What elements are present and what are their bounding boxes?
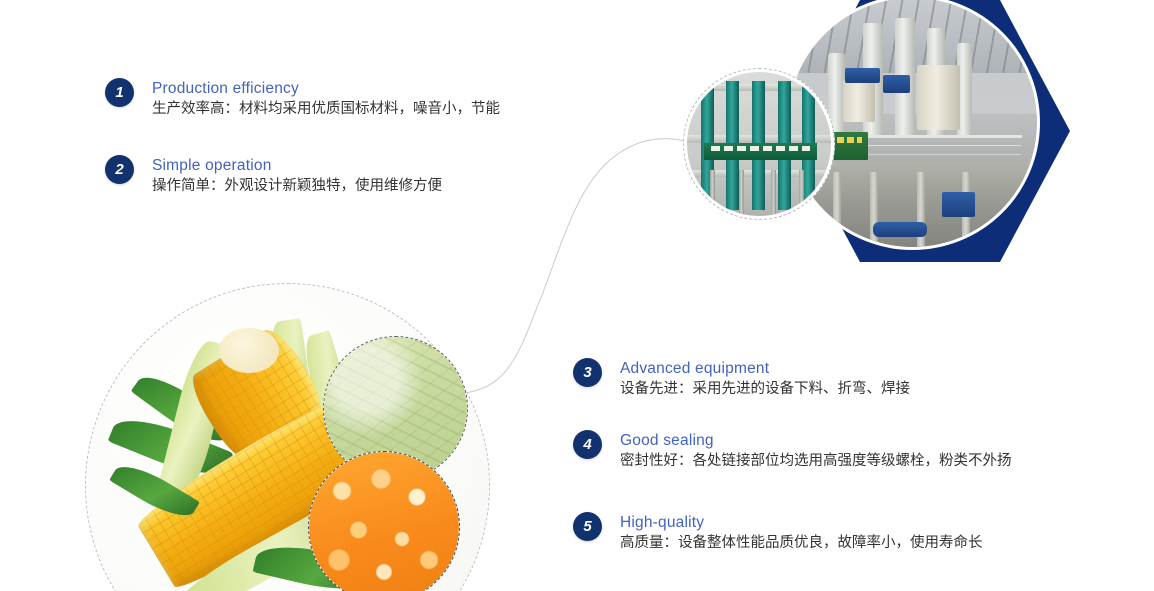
feature-badge-1: 1	[105, 78, 134, 107]
feature-subtitle-3: 设备先进：采用先进的设备下料、折弯、焊接	[620, 379, 910, 400]
feature-heading-5: High-quality	[620, 513, 983, 532]
feature-badge-3: 3	[573, 358, 602, 387]
feature-item-5[interactable]: 5 High-quality 高质量：设备整体性能品质优良，故障率小，使用寿命长	[573, 512, 983, 554]
feature-badge-2: 2	[105, 155, 134, 184]
produce-photo-cluster	[80, 278, 550, 591]
feature-text-5: High-quality 高质量：设备整体性能品质优良，故障率小，使用寿命长	[620, 512, 983, 554]
infographic-canvas: 1 Production efficiency 生产效率高：材料均采用优质国标材…	[0, 0, 1154, 591]
teal-milling-line-photo	[683, 68, 835, 220]
feature-heading-3: Advanced equipment	[620, 359, 910, 378]
feature-subtitle-4: 密封性好：各处链接部位均选用高强度等级螺栓，粉类不外扬	[620, 451, 1012, 472]
feature-item-4[interactable]: 4 Good sealing 密封性好：各处链接部位均选用高强度等级螺栓，粉类不…	[573, 430, 1012, 472]
mill-line-banner-sign	[704, 143, 816, 160]
feature-badge-4: 4	[573, 430, 602, 459]
feature-item-2[interactable]: 2 Simple operation 操作简单：外观设计新颖独特，使用维修方便	[105, 155, 442, 197]
feature-badge-5: 5	[573, 512, 602, 541]
feature-text-3: Advanced equipment 设备先进：采用先进的设备下料、折弯、焊接	[620, 358, 910, 400]
feature-heading-4: Good sealing	[620, 431, 1012, 450]
feature-item-1[interactable]: 1 Production efficiency 生产效率高：材料均采用优质国标材…	[105, 78, 500, 120]
feature-subtitle-1: 生产效率高：材料均采用优质国标材料，噪音小，节能	[152, 99, 500, 120]
feature-text-1: Production efficiency 生产效率高：材料均采用优质国标材料，…	[152, 78, 500, 120]
feature-subtitle-5: 高质量：设备整体性能品质优良，故障率小，使用寿命长	[620, 533, 983, 554]
feature-heading-2: Simple operation	[152, 156, 442, 175]
feature-text-2: Simple operation 操作简单：外观设计新颖独特，使用维修方便	[152, 155, 442, 197]
feature-subtitle-2: 操作简单：外观设计新颖独特，使用维修方便	[152, 176, 442, 197]
feature-heading-1: Production efficiency	[152, 79, 500, 98]
feature-item-3[interactable]: 3 Advanced equipment 设备先进：采用先进的设备下料、折弯、焊…	[573, 358, 910, 400]
corn-grits-photo	[308, 451, 460, 591]
feature-text-4: Good sealing 密封性好：各处链接部位均选用高强度等级螺栓，粉类不外扬	[620, 430, 1012, 472]
hexagon-photo-cluster	[660, 0, 1154, 282]
